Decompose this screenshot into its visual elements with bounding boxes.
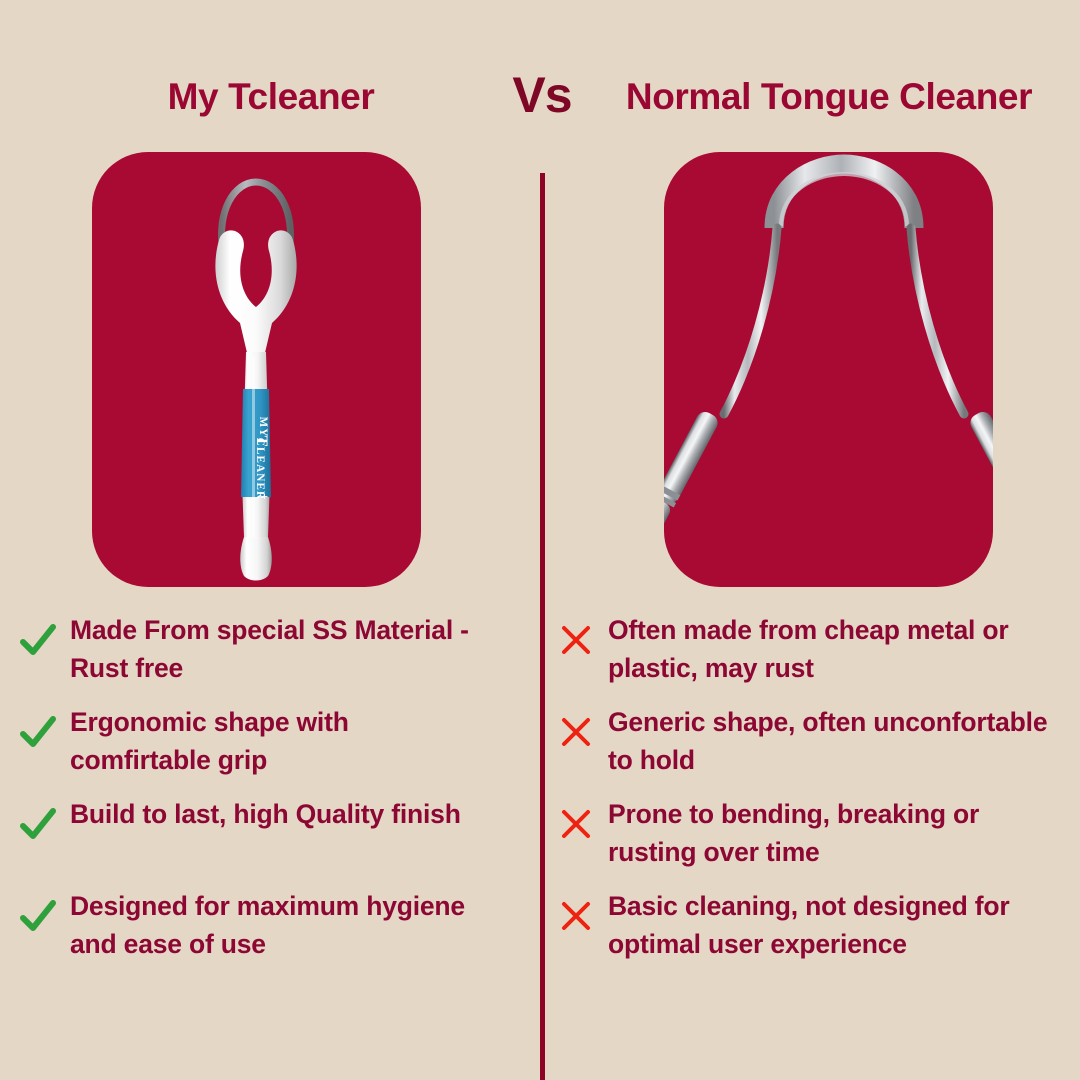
left-product-card: MY T CLEANER + xyxy=(92,152,421,587)
list-item-label: Basic cleaning, not designed for optimal… xyxy=(608,884,1068,963)
u-shaped-metal-tongue-scraper-icon xyxy=(664,152,993,587)
list-item: Basic cleaning, not designed for optimal… xyxy=(556,884,1068,976)
list-item: Prone to bending, breaking or rusting ov… xyxy=(556,792,1068,884)
header: My Tcleaner Vs Normal Tongue Cleaner xyxy=(0,0,1080,160)
left-column-title: My Tcleaner xyxy=(0,76,542,118)
check-icon xyxy=(18,896,58,936)
left-feature-list: Made From special SS Material - Rust fre… xyxy=(18,608,488,976)
list-item: Ergonomic shape with comfirtable grip xyxy=(18,700,488,792)
right-product-card xyxy=(664,152,993,587)
list-item: Designed for maximum hygiene and ease of… xyxy=(18,884,488,976)
list-item: Made From special SS Material - Rust fre… xyxy=(18,608,488,700)
check-icon xyxy=(18,804,58,844)
right-feature-list: Often made from cheap metal or plastic, … xyxy=(556,608,1068,976)
cross-icon xyxy=(556,712,596,752)
y-shaped-white-tongue-cleaner-icon: MY T CLEANER + xyxy=(92,152,421,587)
right-column-title: Normal Tongue Cleaner xyxy=(578,76,1080,118)
comparison-infographic: My Tcleaner Vs Normal Tongue Cleaner xyxy=(0,0,1080,1080)
list-item-label: Build to last, high Quality finish xyxy=(70,792,461,833)
list-item: Often made from cheap metal or plastic, … xyxy=(556,608,1068,700)
list-item-label: Ergonomic shape with comfirtable grip xyxy=(70,700,488,779)
vs-label: Vs xyxy=(498,66,586,124)
list-item: Generic shape, often unconfortable to ho… xyxy=(556,700,1068,792)
brand-label-my: MY xyxy=(257,417,269,438)
list-item-label: Generic shape, often unconfortable to ho… xyxy=(608,700,1068,779)
cross-icon xyxy=(556,804,596,844)
list-item: Build to last, high Quality finish xyxy=(18,792,488,884)
cross-icon xyxy=(556,620,596,660)
vertical-divider xyxy=(540,173,545,1080)
check-icon xyxy=(18,712,58,752)
brand-label-cleaner: CLEANER xyxy=(254,438,266,500)
list-item-label: Prone to bending, breaking or rusting ov… xyxy=(608,792,1068,871)
cross-icon xyxy=(556,896,596,936)
brand-label-plus: + xyxy=(258,493,270,500)
list-item-label: Often made from cheap metal or plastic, … xyxy=(608,608,1068,687)
list-item-label: Made From special SS Material - Rust fre… xyxy=(70,608,488,687)
list-item-label: Designed for maximum hygiene and ease of… xyxy=(70,884,488,963)
check-icon xyxy=(18,620,58,660)
